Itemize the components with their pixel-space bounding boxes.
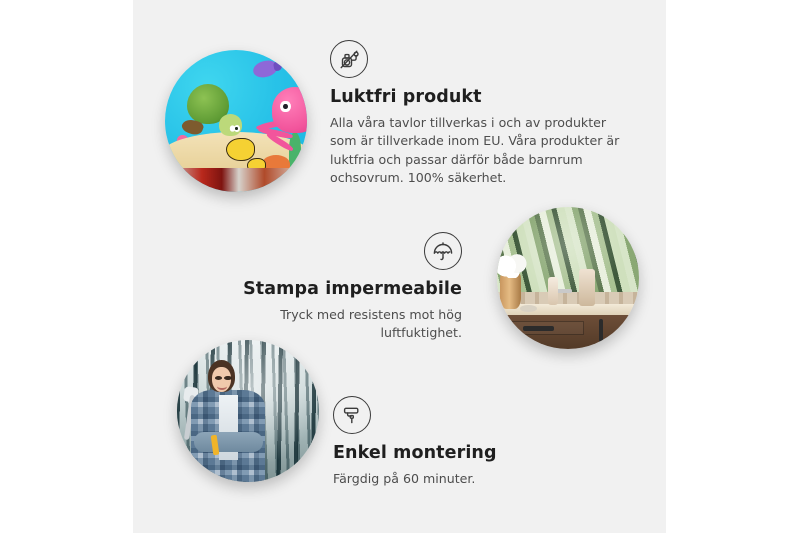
feature-title: Luktfri produkt [330,87,630,108]
sea-turtle [181,84,243,138]
woman-decorator [186,357,274,482]
drawer-handle [523,326,554,330]
feature-description: Alla våra tavlor tillverkas i och av pro… [330,114,630,187]
feature-block-waterproof-print: Stampa impermeabile Tryck med resistens … [218,232,462,343]
feature-title: Stampa impermeabile [218,279,462,300]
umbrella-icon [424,232,462,270]
soap-dish [520,305,537,312]
white-flowers [497,254,527,278]
feature-title: Enkel montering [333,443,593,464]
bottle [548,277,558,305]
no-fragrance-icon [330,40,368,78]
feature-image-underwater-cartoon-mural [165,50,307,192]
feature-description: Färgdig på 60 minuter. [333,470,593,488]
cabinet-handle [599,319,603,342]
feature-block-odour-free: Luktfri produkt Alla våra tavlor tillver… [330,40,630,187]
feature-image-woman-with-paint-roller-forest-mural [177,340,319,482]
feature-image-bathroom-botanical-wallpaper [497,207,639,349]
octopus [256,87,307,152]
room-foreground [165,168,307,192]
paint-roller-icon [333,396,371,434]
yellow-fish [226,138,255,161]
vase-tall [579,269,595,306]
feature-block-easy-mounting: Enkel montering Färgdig på 60 minuter. [333,396,593,488]
feature-description: Tryck med resistens mot hög luftfuktighe… [218,306,462,343]
promo-banner: Luktfri produkt Alla våra tavlor tillver… [0,0,800,533]
